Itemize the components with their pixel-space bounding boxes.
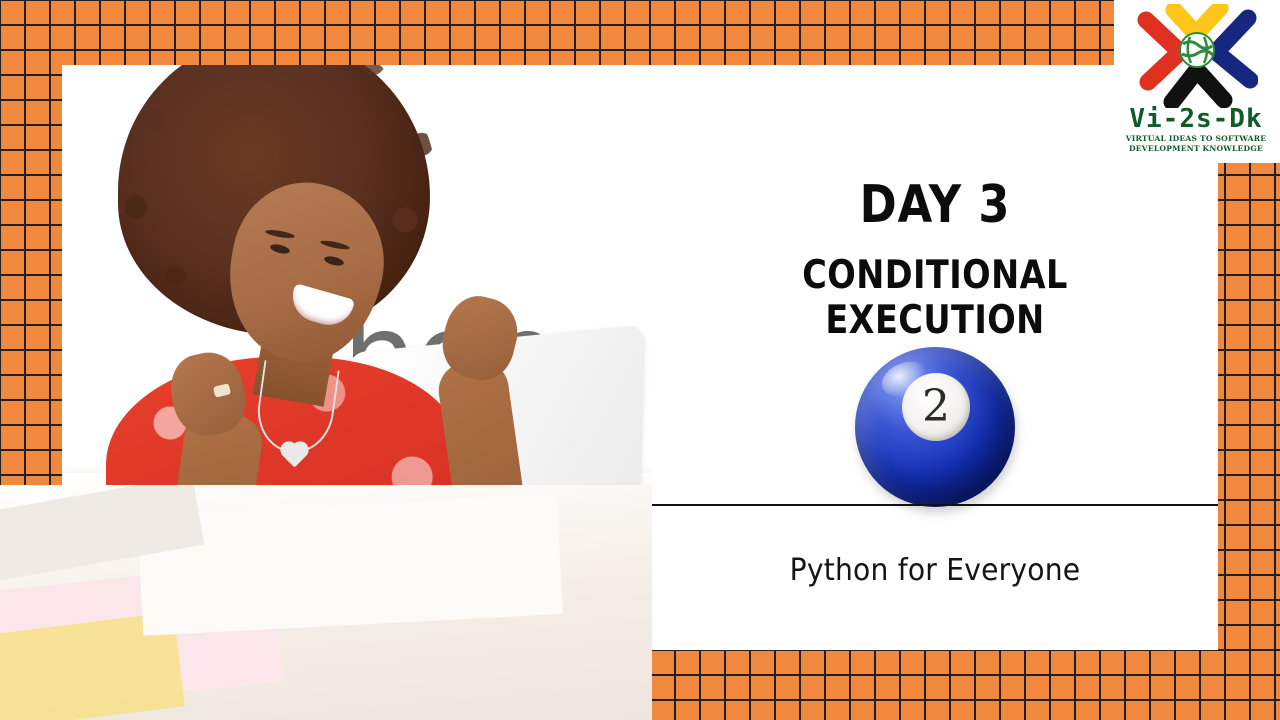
desk-paper-white — [137, 494, 563, 636]
logo-tagline-line1: VIRTUAL IDEAS TO SOFTWARE — [1120, 134, 1272, 144]
logo-tagline: VIRTUAL IDEAS TO SOFTWARE DEVELOPMENT KN… — [1120, 134, 1272, 153]
topic-subtitle: CONDITIONAL EXECUTION — [692, 253, 1179, 343]
course-name: Python for Everyone — [669, 553, 1201, 588]
ball-number: 2 — [902, 373, 970, 441]
ball-illustration: 2 — [652, 347, 1218, 507]
slide-canvas: thon — [0, 0, 1280, 720]
brand-logo: Vi-2s-Dk VIRTUAL IDEAS TO SOFTWARE DEVEL… — [1120, 4, 1272, 160]
day-title: DAY 3 — [692, 175, 1179, 235]
logo-wordmark: Vi-2s-Dk — [1120, 104, 1272, 134]
horizontal-divider — [652, 504, 1218, 506]
billiard-ball-2: 2 — [855, 347, 1015, 507]
logo-tagline-line2: DEVELOPMENT KNOWLEDGE — [1120, 144, 1272, 154]
photo-foreground-bleed — [0, 485, 652, 720]
globe-icon — [1180, 33, 1214, 67]
logo-arrows-icon — [1136, 4, 1258, 108]
